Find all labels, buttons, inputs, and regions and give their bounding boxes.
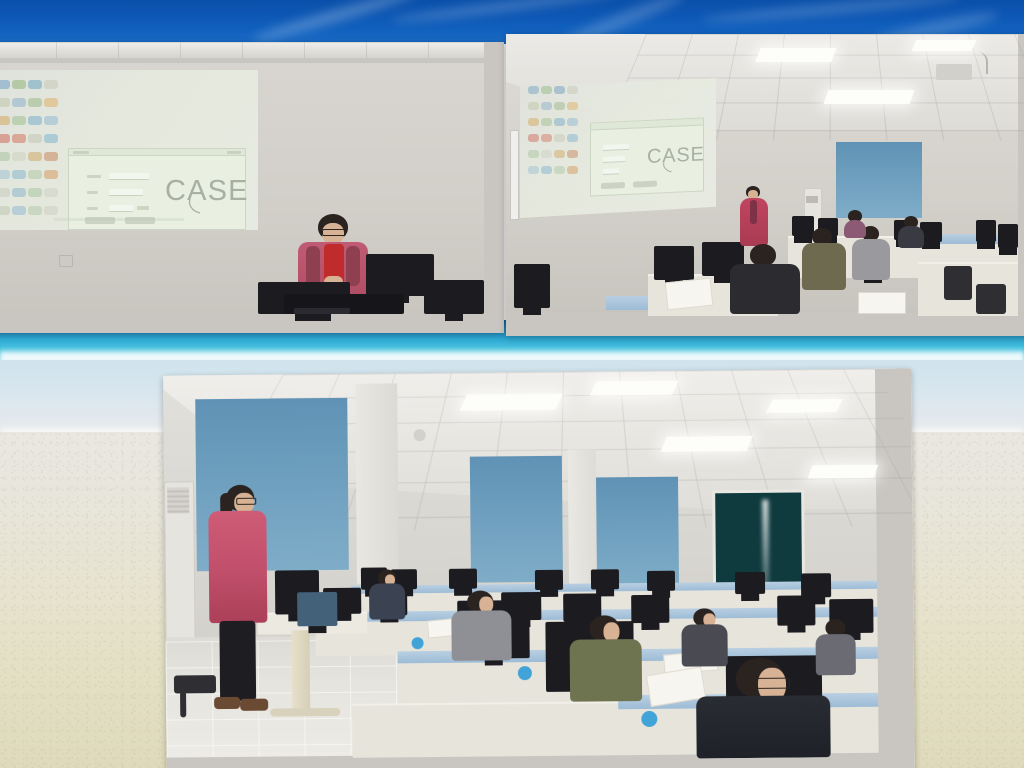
open-book	[665, 278, 714, 311]
chair	[174, 675, 216, 693]
desk-sticker	[412, 637, 424, 649]
desktop-icon	[567, 150, 578, 158]
desktop-icon	[554, 102, 565, 110]
person-attendee	[898, 216, 924, 248]
person-attendee	[730, 244, 800, 314]
field-label	[87, 191, 98, 194]
desktop-icon	[0, 98, 10, 107]
desktop-icon	[12, 206, 26, 215]
monitor	[647, 571, 675, 591]
desktop-icon	[528, 118, 539, 126]
monitor	[735, 572, 765, 594]
desktop-icon	[12, 80, 26, 89]
chair	[944, 266, 972, 300]
desktop-icon	[12, 170, 26, 179]
desktop-icon	[28, 152, 42, 161]
desktop-icon	[528, 134, 539, 142]
reset-button[interactable]	[633, 181, 657, 188]
person-attendee	[451, 590, 512, 661]
ceiling-lamp	[823, 90, 914, 104]
person-attendee	[569, 615, 642, 702]
desktop-icon	[28, 98, 42, 107]
chair	[976, 284, 1006, 314]
ceiling-lamp	[590, 381, 679, 396]
ceiling-lamp	[912, 40, 977, 51]
taskbar	[54, 218, 184, 221]
keyboard	[294, 308, 350, 314]
window-blind	[470, 456, 563, 583]
jacket	[696, 695, 831, 758]
chair	[180, 691, 186, 717]
ceiling-projector	[936, 64, 972, 80]
desktop-icon	[0, 152, 10, 161]
monitor	[449, 569, 477, 589]
monitor	[654, 246, 694, 280]
photo-main[interactable]	[163, 368, 915, 768]
username-field[interactable]	[109, 173, 149, 180]
desktop-icon	[554, 118, 565, 126]
desktop-icon	[44, 206, 58, 215]
person-instructor	[738, 186, 772, 246]
jacket-panel	[750, 200, 757, 224]
shoe	[214, 697, 240, 709]
desktop-icon	[28, 116, 42, 125]
desktop-icon	[0, 188, 10, 197]
window-title-text	[73, 151, 89, 154]
captcha-field[interactable]	[603, 168, 619, 175]
desktop-icon	[541, 86, 552, 94]
captcha-field[interactable]	[109, 205, 133, 212]
desktop-icons	[528, 86, 578, 180]
jacket	[852, 239, 890, 280]
monitor	[998, 224, 1018, 248]
head	[750, 244, 776, 266]
window-blind	[836, 142, 922, 218]
desktop-icon	[528, 102, 539, 110]
monitor	[591, 569, 619, 589]
desktop-icon	[0, 80, 10, 89]
desktop-icon	[28, 80, 42, 89]
desktop-icon	[0, 206, 10, 215]
desktop-icon	[28, 206, 42, 215]
desktop-icon	[44, 152, 58, 161]
desktop-icon	[12, 134, 26, 143]
desktop-icon	[541, 134, 552, 142]
case-application-window: CASE	[590, 117, 704, 196]
case-logo-swoosh-icon	[187, 198, 209, 214]
desktop-icon	[567, 134, 578, 142]
field-label	[87, 207, 98, 210]
desktop-icon	[28, 134, 42, 143]
person-attendee-foreground	[690, 657, 831, 758]
desktop-icon	[541, 102, 552, 110]
desk-sticker	[518, 666, 532, 680]
desktop-icon	[44, 170, 58, 179]
jacket	[730, 264, 800, 314]
password-field[interactable]	[603, 156, 625, 163]
desktop-icon	[44, 98, 58, 107]
desktop-icon	[528, 166, 539, 174]
monitor	[424, 280, 484, 314]
glasses-icon	[322, 229, 346, 236]
trousers	[219, 621, 256, 701]
desk-leg	[291, 630, 310, 712]
glasses-icon	[756, 678, 790, 689]
desktop-icon	[12, 98, 26, 107]
window-controls-icon	[227, 151, 241, 154]
glasses-icon	[236, 498, 256, 505]
ceiling-speaker	[414, 429, 426, 441]
photo-right-image: CASE	[506, 34, 1024, 336]
login-button[interactable]	[601, 182, 625, 189]
wall-pillar	[355, 383, 399, 583]
ceiling-lamp	[755, 48, 837, 62]
desktop-icon	[0, 170, 10, 179]
classroom-scene-main	[163, 368, 915, 768]
desktop-icon	[28, 170, 42, 179]
monitor	[976, 220, 996, 242]
ceiling-lamp	[808, 465, 879, 479]
person-attendee	[842, 210, 868, 236]
person-attendee	[802, 228, 846, 290]
username-field[interactable]	[603, 144, 629, 151]
desktop-icon	[12, 188, 26, 197]
desktop-icons	[0, 80, 58, 222]
ceiling-lamp	[766, 399, 843, 413]
desktop-icon	[44, 134, 58, 143]
ac-vent-icon	[167, 487, 189, 513]
photo-left[interactable]: CASE	[0, 42, 504, 333]
jacket	[451, 610, 511, 661]
classroom-scene-left: CASE	[0, 42, 504, 333]
monitor	[777, 595, 815, 625]
case-logo-swoosh-icon	[662, 161, 678, 174]
monitor	[801, 573, 831, 597]
whiteboard	[510, 130, 519, 220]
desktop-icon	[567, 102, 578, 110]
monitor	[514, 264, 550, 308]
jacket	[844, 220, 866, 238]
monitor	[535, 570, 563, 590]
window-title-bar	[69, 149, 245, 156]
monitor	[297, 592, 337, 626]
desktop-icon	[528, 150, 539, 158]
shoe	[240, 699, 268, 711]
desktop-icon	[554, 150, 565, 158]
person-attendee	[369, 569, 405, 619]
desktop-icon	[28, 188, 42, 197]
classroom-scene-right: CASE	[506, 34, 1024, 336]
ceiling-lamp	[459, 394, 563, 411]
desktop-icon	[541, 166, 552, 174]
ceiling-lamp	[661, 436, 753, 452]
desktop-icon	[0, 116, 10, 125]
desktop-icon	[528, 86, 539, 94]
jacket	[208, 511, 267, 624]
desktop-icon	[541, 150, 552, 158]
open-book	[858, 292, 906, 314]
desktop-icon	[554, 166, 565, 174]
projector-cable	[972, 52, 988, 74]
captcha-image	[137, 206, 149, 210]
desktop-icon	[44, 80, 58, 89]
jacket	[898, 226, 924, 248]
jacket	[369, 583, 405, 619]
ac-vent-icon	[806, 196, 818, 203]
wall-socket-icon	[59, 255, 73, 267]
jacket-panel	[306, 246, 320, 286]
wall-upper-shadow	[0, 58, 484, 63]
jacket	[802, 243, 846, 290]
desktop-icon	[44, 116, 58, 125]
desktop-icon	[567, 118, 578, 126]
photo-main-image	[163, 368, 915, 768]
desktop-icon	[554, 134, 565, 142]
photo-left-image: CASE	[0, 42, 504, 333]
desktop-icon	[554, 86, 565, 94]
desk-foot	[270, 708, 340, 717]
ceiling-tile-grid	[0, 42, 484, 58]
desktop-icon	[12, 152, 26, 161]
desktop-icon	[567, 166, 578, 174]
jacket-panel	[346, 246, 360, 286]
desktop-icon	[44, 188, 58, 197]
photo-right[interactable]: CASE	[506, 34, 1024, 336]
desktop-icon	[541, 118, 552, 126]
desktop-icon	[567, 86, 578, 94]
password-field[interactable]	[109, 189, 143, 196]
desktop-icon	[12, 116, 26, 125]
desktop-icon	[0, 134, 10, 143]
desk-sticker	[641, 711, 657, 727]
collage-canvas: CASE	[0, 0, 1024, 768]
jacket	[570, 639, 643, 702]
field-label	[87, 175, 101, 178]
